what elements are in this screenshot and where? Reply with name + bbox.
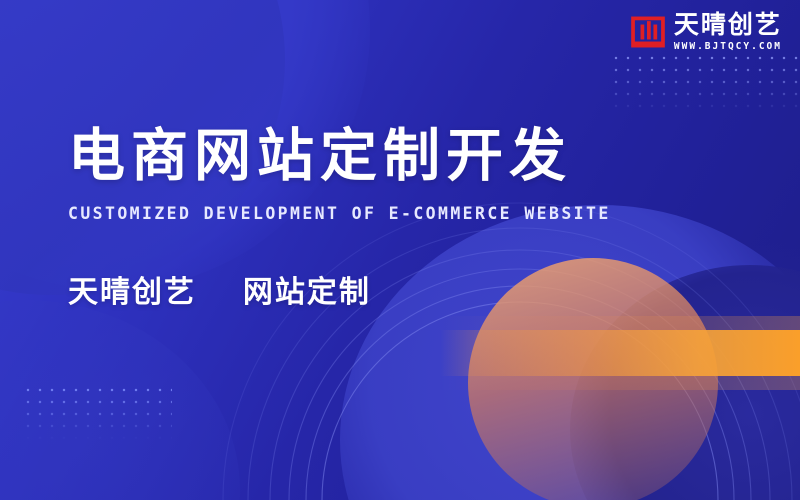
logo-website-url: WWW.BJTQCY.COM <box>674 41 782 52</box>
tagline-service: 网站定制 <box>243 275 371 310</box>
background-blob-bottom-left <box>0 300 240 500</box>
brand-logo[interactable]: 天晴创艺 WWW.BJTQCY.COM <box>631 12 782 52</box>
logo-text-group: 天晴创艺 WWW.BJTQCY.COM <box>674 12 782 52</box>
banner-subheadline: CUSTOMIZED DEVELOPMENT OF E-COMMERCE WEB… <box>68 204 628 223</box>
banner-headline: 电商网站定制开发 <box>68 126 628 188</box>
banner-content: 电商网站定制开发 CUSTOMIZED DEVELOPMENT OF E-COM… <box>68 126 628 311</box>
promo-banner: 天晴创艺 WWW.BJTQCY.COM 电商网站定制开发 CUSTOMIZED … <box>0 0 800 500</box>
tagline-brand: 天晴创艺 <box>68 275 196 310</box>
banner-tagline: 天晴创艺 网站定制 <box>68 267 628 311</box>
dot-grid-bottom-left <box>22 384 172 440</box>
logo-company-name: 天晴创艺 <box>674 12 782 38</box>
tianqing-logo-mark-icon <box>631 15 665 49</box>
dot-grid-top-right <box>610 52 800 114</box>
orange-gradient-bar <box>440 330 800 376</box>
orange-bar-glow <box>440 316 800 390</box>
